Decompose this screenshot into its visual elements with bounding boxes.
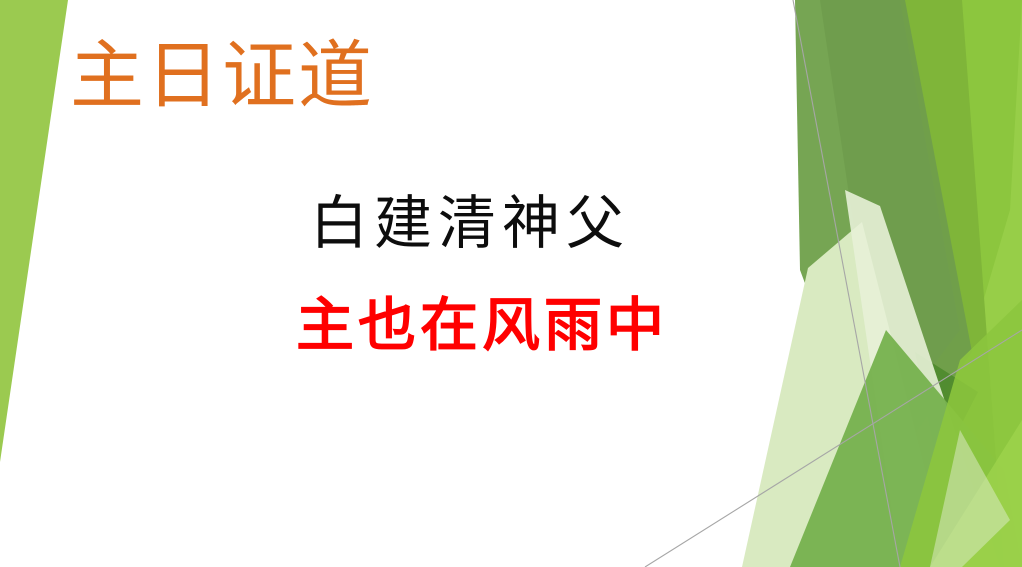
page-title: 主日证道 xyxy=(70,38,374,116)
slide-text-layer: 主日证道 白建清神父 主也在风雨中 xyxy=(0,0,1022,567)
speaker-name: 白建清神父 xyxy=(310,192,630,256)
presentation-slide: 主日证道 白建清神父 主也在风雨中 xyxy=(0,0,1022,567)
sermon-topic: 主也在风雨中 xyxy=(296,294,668,358)
